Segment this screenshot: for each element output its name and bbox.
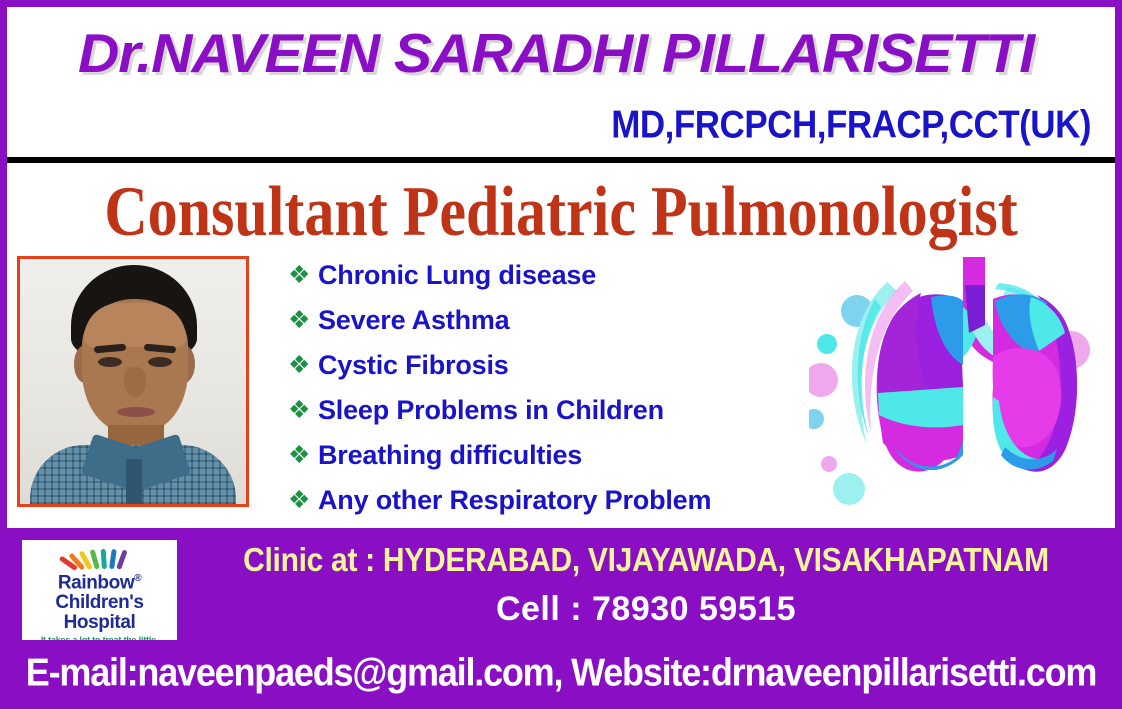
- registered-mark-icon: ®: [134, 573, 141, 584]
- diamond-bullet-icon: ❖: [288, 488, 318, 513]
- cell-number: Cell : 78930 59515: [187, 590, 1105, 629]
- service-label: Chronic Lung disease: [318, 260, 596, 291]
- portrait-mouth: [117, 407, 155, 417]
- portrait-eye-right: [148, 357, 172, 367]
- deco-circle: [809, 363, 838, 397]
- card-body: ❖ Chronic Lung disease ❖ Severe Asthma ❖…: [7, 247, 1115, 528]
- service-label: Sleep Problems in Children: [318, 395, 664, 426]
- service-label: Any other Respiratory Problem: [318, 485, 711, 516]
- lung-right: [993, 294, 1078, 471]
- deco-circle: [821, 456, 837, 472]
- doctor-name: Dr.NAVEEN SARADHI PILLARISETTI: [0, 21, 1122, 85]
- service-label: Breathing difficulties: [318, 440, 582, 471]
- diamond-bullet-icon: ❖: [288, 308, 318, 333]
- portrait-shirt-placket: [126, 459, 142, 504]
- header-divider-rule: [7, 157, 1115, 163]
- deco-circle: [833, 473, 865, 505]
- logo-tagline: It takes a lot to treat the little.: [22, 635, 177, 640]
- portrait-forehead: [84, 303, 186, 347]
- doctor-portrait-photo: [17, 256, 249, 507]
- doctor-qualifications: MD,FRCPCH,FRACP,CCT(UK): [611, 103, 1091, 148]
- rainbow-childrens-hospital-logo: Rainbow® Children's Hospital It takes a …: [22, 540, 177, 640]
- card-footer: Rainbow® Children's Hospital It takes a …: [7, 528, 1115, 702]
- email-and-website: E-mail:naveenpaeds@gmail.com, Website:dr…: [7, 650, 1115, 695]
- clinic-locations: Clinic at : HYDERABAD, VIJAYAWADA, VISAK…: [187, 542, 1105, 580]
- list-item: ❖ Cystic Fibrosis: [288, 343, 808, 388]
- service-label: Severe Asthma: [318, 305, 510, 336]
- list-item: ❖ Chronic Lung disease: [288, 253, 808, 298]
- list-item: ❖ Severe Asthma: [288, 298, 808, 343]
- portrait-eye-left: [98, 357, 122, 367]
- list-item: ❖ Breathing difficulties: [288, 433, 808, 478]
- portrait-nose: [124, 367, 146, 397]
- speciality-title: Consultant Pediatric Pulmonologist: [7, 169, 1115, 254]
- diamond-bullet-icon: ❖: [288, 263, 318, 288]
- logo-text-childrens: Children's: [22, 593, 177, 613]
- logo-line-rainbow: Rainbow®: [22, 569, 177, 593]
- list-item: ❖ Sleep Problems in Children: [288, 388, 808, 433]
- rainbow-fan-icon: [72, 547, 128, 569]
- logo-text-rainbow: Rainbow: [58, 572, 134, 593]
- services-list: ❖ Chronic Lung disease ❖ Severe Asthma ❖…: [288, 253, 808, 523]
- deco-circle: [817, 334, 837, 354]
- deco-circle: [809, 409, 824, 429]
- card-header: Dr.NAVEEN SARADHI PILLARISETTI MD,FRCPCH…: [7, 7, 1115, 157]
- lungs-illustration: [809, 247, 1109, 517]
- logo-text-hospital: Hospital: [22, 613, 177, 633]
- list-item: ❖ Any other Respiratory Problem: [288, 478, 808, 523]
- visiting-card: Dr.NAVEEN SARADHI PILLARISETTI MD,FRCPCH…: [0, 0, 1122, 709]
- diamond-bullet-icon: ❖: [288, 443, 318, 468]
- diamond-bullet-icon: ❖: [288, 353, 318, 378]
- diamond-bullet-icon: ❖: [288, 398, 318, 423]
- service-label: Cystic Fibrosis: [318, 350, 509, 381]
